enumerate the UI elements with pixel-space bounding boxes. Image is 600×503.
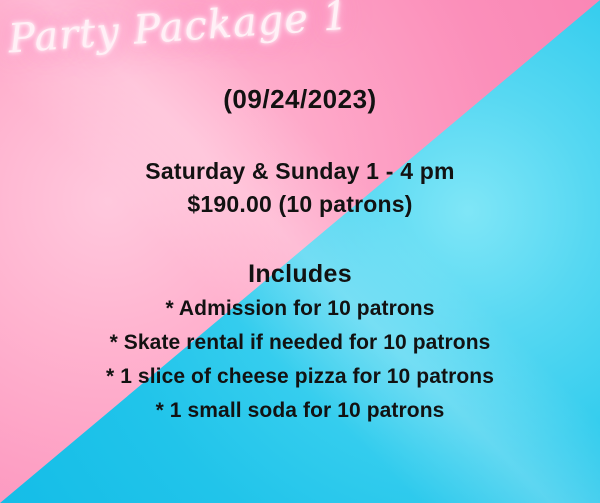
includes-item: * Admission for 10 patrons xyxy=(0,292,600,326)
includes-item: * 1 small soda for 10 patrons xyxy=(0,394,600,428)
includes-item: * 1 slice of cheese pizza for 10 patrons xyxy=(0,360,600,394)
schedule-block: Saturday & Sunday 1 - 4 pm $190.00 (10 p… xyxy=(0,155,600,220)
includes-block: Includes * Admission for 10 patrons * Sk… xyxy=(0,256,600,428)
poster-content: (09/24/2023) Saturday & Sunday 1 - 4 pm … xyxy=(0,0,600,503)
schedule-days-time: Saturday & Sunday 1 - 4 pm xyxy=(0,155,600,188)
schedule-price: $190.00 (10 patrons) xyxy=(0,188,600,221)
includes-heading: Includes xyxy=(0,256,600,292)
party-package-poster: Party Package 1 (09/24/2023) Saturday & … xyxy=(0,0,600,503)
poster-date: (09/24/2023) xyxy=(0,84,600,115)
includes-item: * Skate rental if needed for 10 patrons xyxy=(0,326,600,360)
